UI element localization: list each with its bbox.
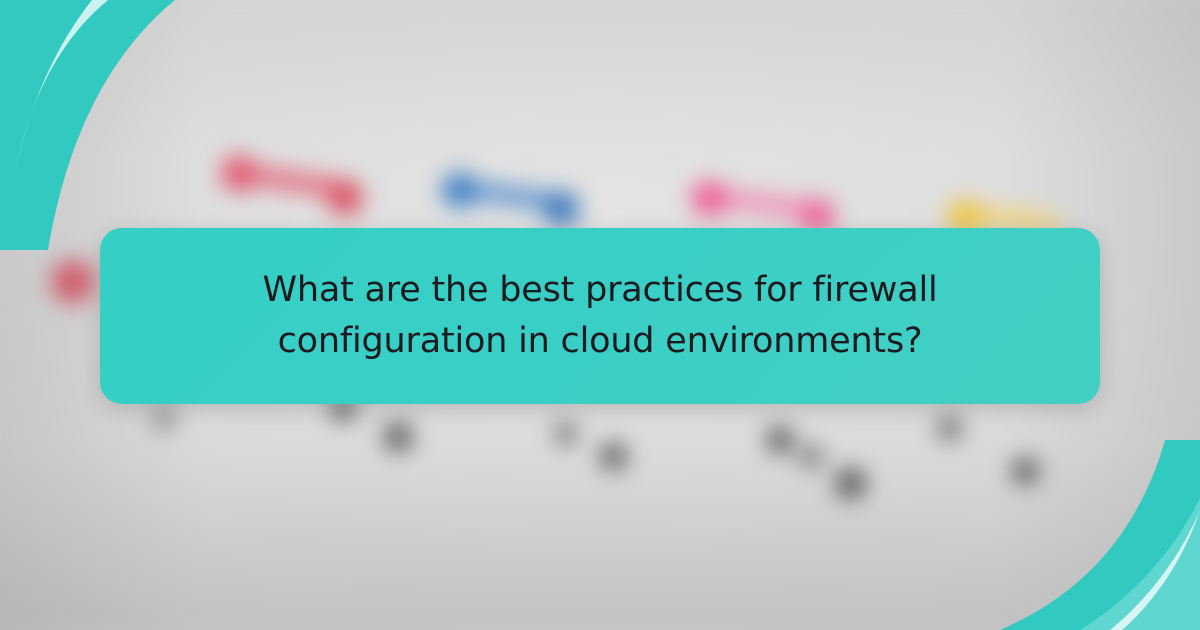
question-card: What are the best practices for firewall…	[100, 228, 1100, 404]
poster-canvas: What are the best practices for firewall…	[0, 0, 1200, 630]
question-text: What are the best practices for firewall…	[250, 265, 950, 367]
